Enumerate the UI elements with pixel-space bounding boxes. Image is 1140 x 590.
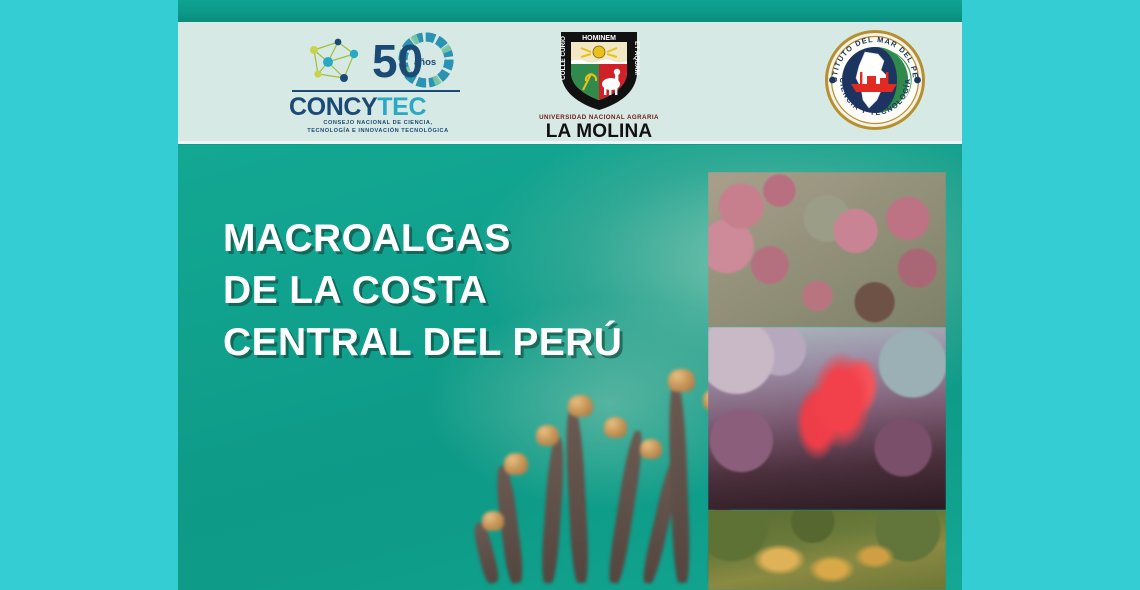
institution-logo-strip: 50 años CONCYTEC CONSEJO NACIONAL DE CIE… bbox=[178, 22, 962, 144]
concytec-mark: 50 años bbox=[232, 32, 445, 90]
title-line-3: CENTRAL DEL PERÚ bbox=[223, 317, 622, 369]
cover-photo-column bbox=[708, 172, 946, 590]
imarpe-logo: INSTITUTO DEL MAR DEL PERÚ CIENCIA Y TEC… bbox=[823, 28, 962, 138]
50-anniversary-icon: 50 años bbox=[370, 32, 462, 90]
cover-title: MACROALGAS DE LA COSTA CENTRAL DEL PERÚ bbox=[223, 213, 622, 369]
cover-photo-golden-alga bbox=[708, 510, 946, 590]
concytec-divider bbox=[292, 90, 460, 92]
unalm-motto-right: ET AQUAM bbox=[633, 41, 640, 75]
photo-2-image bbox=[708, 327, 946, 510]
title-line-1: MACROALGAS bbox=[223, 213, 622, 265]
cover-photo-red-alga bbox=[708, 327, 946, 510]
photo-3-image bbox=[708, 510, 946, 590]
concytec-subtitle-line2: TECNOLOGÍA E INNOVACIÓN TECNOLÓGICA bbox=[289, 128, 467, 136]
unalm-motto-left: COLLE CURIO bbox=[560, 36, 567, 80]
unalm-name: LA MOLINA bbox=[525, 121, 673, 142]
cover-artwork-area: MACROALGAS DE LA COSTA CENTRAL DEL PERÚ bbox=[178, 145, 962, 590]
photo-1-image bbox=[708, 172, 946, 327]
concytec-wordmark: CONCYTEC bbox=[289, 94, 465, 121]
concytec-subtitle-line1: CONSEJO NACIONAL DE CIENCIA, bbox=[289, 120, 467, 128]
unalm-shield-icon: HOMINEM ET AQUAM COLLE CURIO bbox=[553, 28, 645, 112]
anniversary-word: años bbox=[414, 57, 436, 68]
concytec-subtitle: CONSEJO NACIONAL DE CIENCIA, TECNOLOGÍA … bbox=[289, 120, 467, 135]
background-algae-cluster bbox=[478, 345, 738, 590]
book-cover: 50 años CONCYTEC CONSEJO NACIONAL DE CIE… bbox=[178, 0, 962, 590]
concytec-wordmark-part1: CONCY bbox=[289, 93, 377, 121]
top-accent-band bbox=[178, 0, 962, 20]
imarpe-seal-icon: INSTITUTO DEL MAR DEL PERÚ CIENCIA Y TEC… bbox=[823, 28, 927, 132]
network-graph-icon bbox=[304, 34, 366, 90]
unalm-subtitle: UNIVERSIDAD NACIONAL AGRARIA bbox=[525, 114, 673, 121]
concytec-wordmark-part2: TEC bbox=[377, 93, 426, 121]
cover-photo-pink-coralline bbox=[708, 172, 946, 327]
unalm-logo: HOMINEM ET AQUAM COLLE CURIO UNIVERSIDAD… bbox=[525, 28, 673, 138]
concytec-logo: 50 años CONCYTEC CONSEJO NACIONAL DE CIE… bbox=[232, 28, 445, 138]
title-line-2: DE LA COSTA bbox=[223, 265, 622, 317]
unalm-motto-top: HOMINEM bbox=[582, 35, 616, 42]
